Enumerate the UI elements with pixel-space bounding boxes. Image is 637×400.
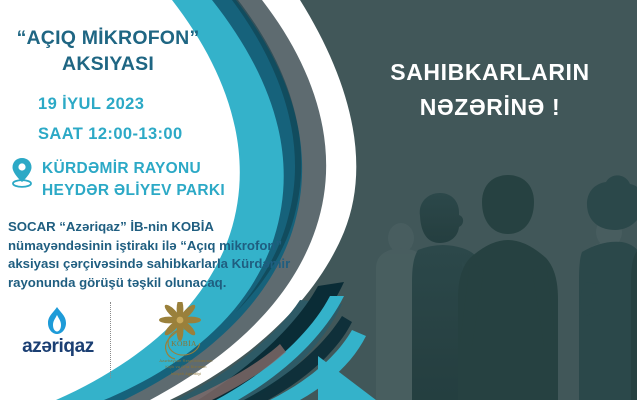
poster-content: “AÇIQ MİKROFON” AKSIYASI 19 İYUL 2023 SA… <box>0 0 637 400</box>
location-pin-icon <box>10 157 34 189</box>
title-line-2: AKSIYASI <box>62 53 154 75</box>
body-paragraph: SOCAR “Azəriqaz” İB-nin KOBİA nümayəndəs… <box>8 218 310 293</box>
svg-text:KOBİA: KOBİA <box>171 339 197 348</box>
headline: SAHIBKARLARIN NƏZƏRİNƏ ! <box>355 55 625 124</box>
venue: KÜRDƏMİR RAYONU HEYDƏR ƏLİYEV PARKI <box>42 158 225 202</box>
event-time: SAAT 12:00-13:00 <box>38 125 183 144</box>
kobia-subtitle-line-2: Kiçik və Orta Biznesin <box>165 364 206 369</box>
left-column: “AÇIQ MİKROFON” AKSIYASI 19 İYUL 2023 SA… <box>0 0 330 400</box>
azeriqaz-logo: azəriqaz <box>12 306 104 368</box>
venue-line-1: KÜRDƏMİR RAYONU <box>42 160 201 177</box>
page-title: “AÇIQ MİKROFON” AKSIYASI <box>8 26 208 77</box>
title-line-1: “AÇIQ MİKROFON” <box>17 27 200 49</box>
headline-line-2: NƏZƏRİNƏ ! <box>355 90 625 125</box>
event-date: 19 İYUL 2023 <box>38 95 144 114</box>
headline-line-1: SAHIBKARLARIN <box>355 55 625 90</box>
kobia-subtitle-line-1: Azərbaycan Respublikasının <box>159 358 212 363</box>
flower-icon: KOBİA <box>146 302 226 364</box>
azeriqaz-wordmark: azəriqaz <box>12 336 104 358</box>
kobia-logo: KOBİA Azərbaycan Respublikasının Kiçik v… <box>132 300 240 396</box>
logo-divider <box>110 302 111 378</box>
venue-line-2: HEYDƏR ƏLİYEV PARKI <box>42 182 225 199</box>
poster-canvas: “AÇIQ MİKROFON” AKSIYASI 19 İYUL 2023 SA… <box>0 0 637 400</box>
kobia-subtitle: Azərbaycan Respublikasının Kiçik və Orta… <box>132 358 240 377</box>
kobia-subtitle-line-3: İnkişafı Agentliyi <box>171 371 202 376</box>
logo-row: azəriqaz <box>0 300 250 400</box>
gas-flame-icon <box>42 306 72 336</box>
